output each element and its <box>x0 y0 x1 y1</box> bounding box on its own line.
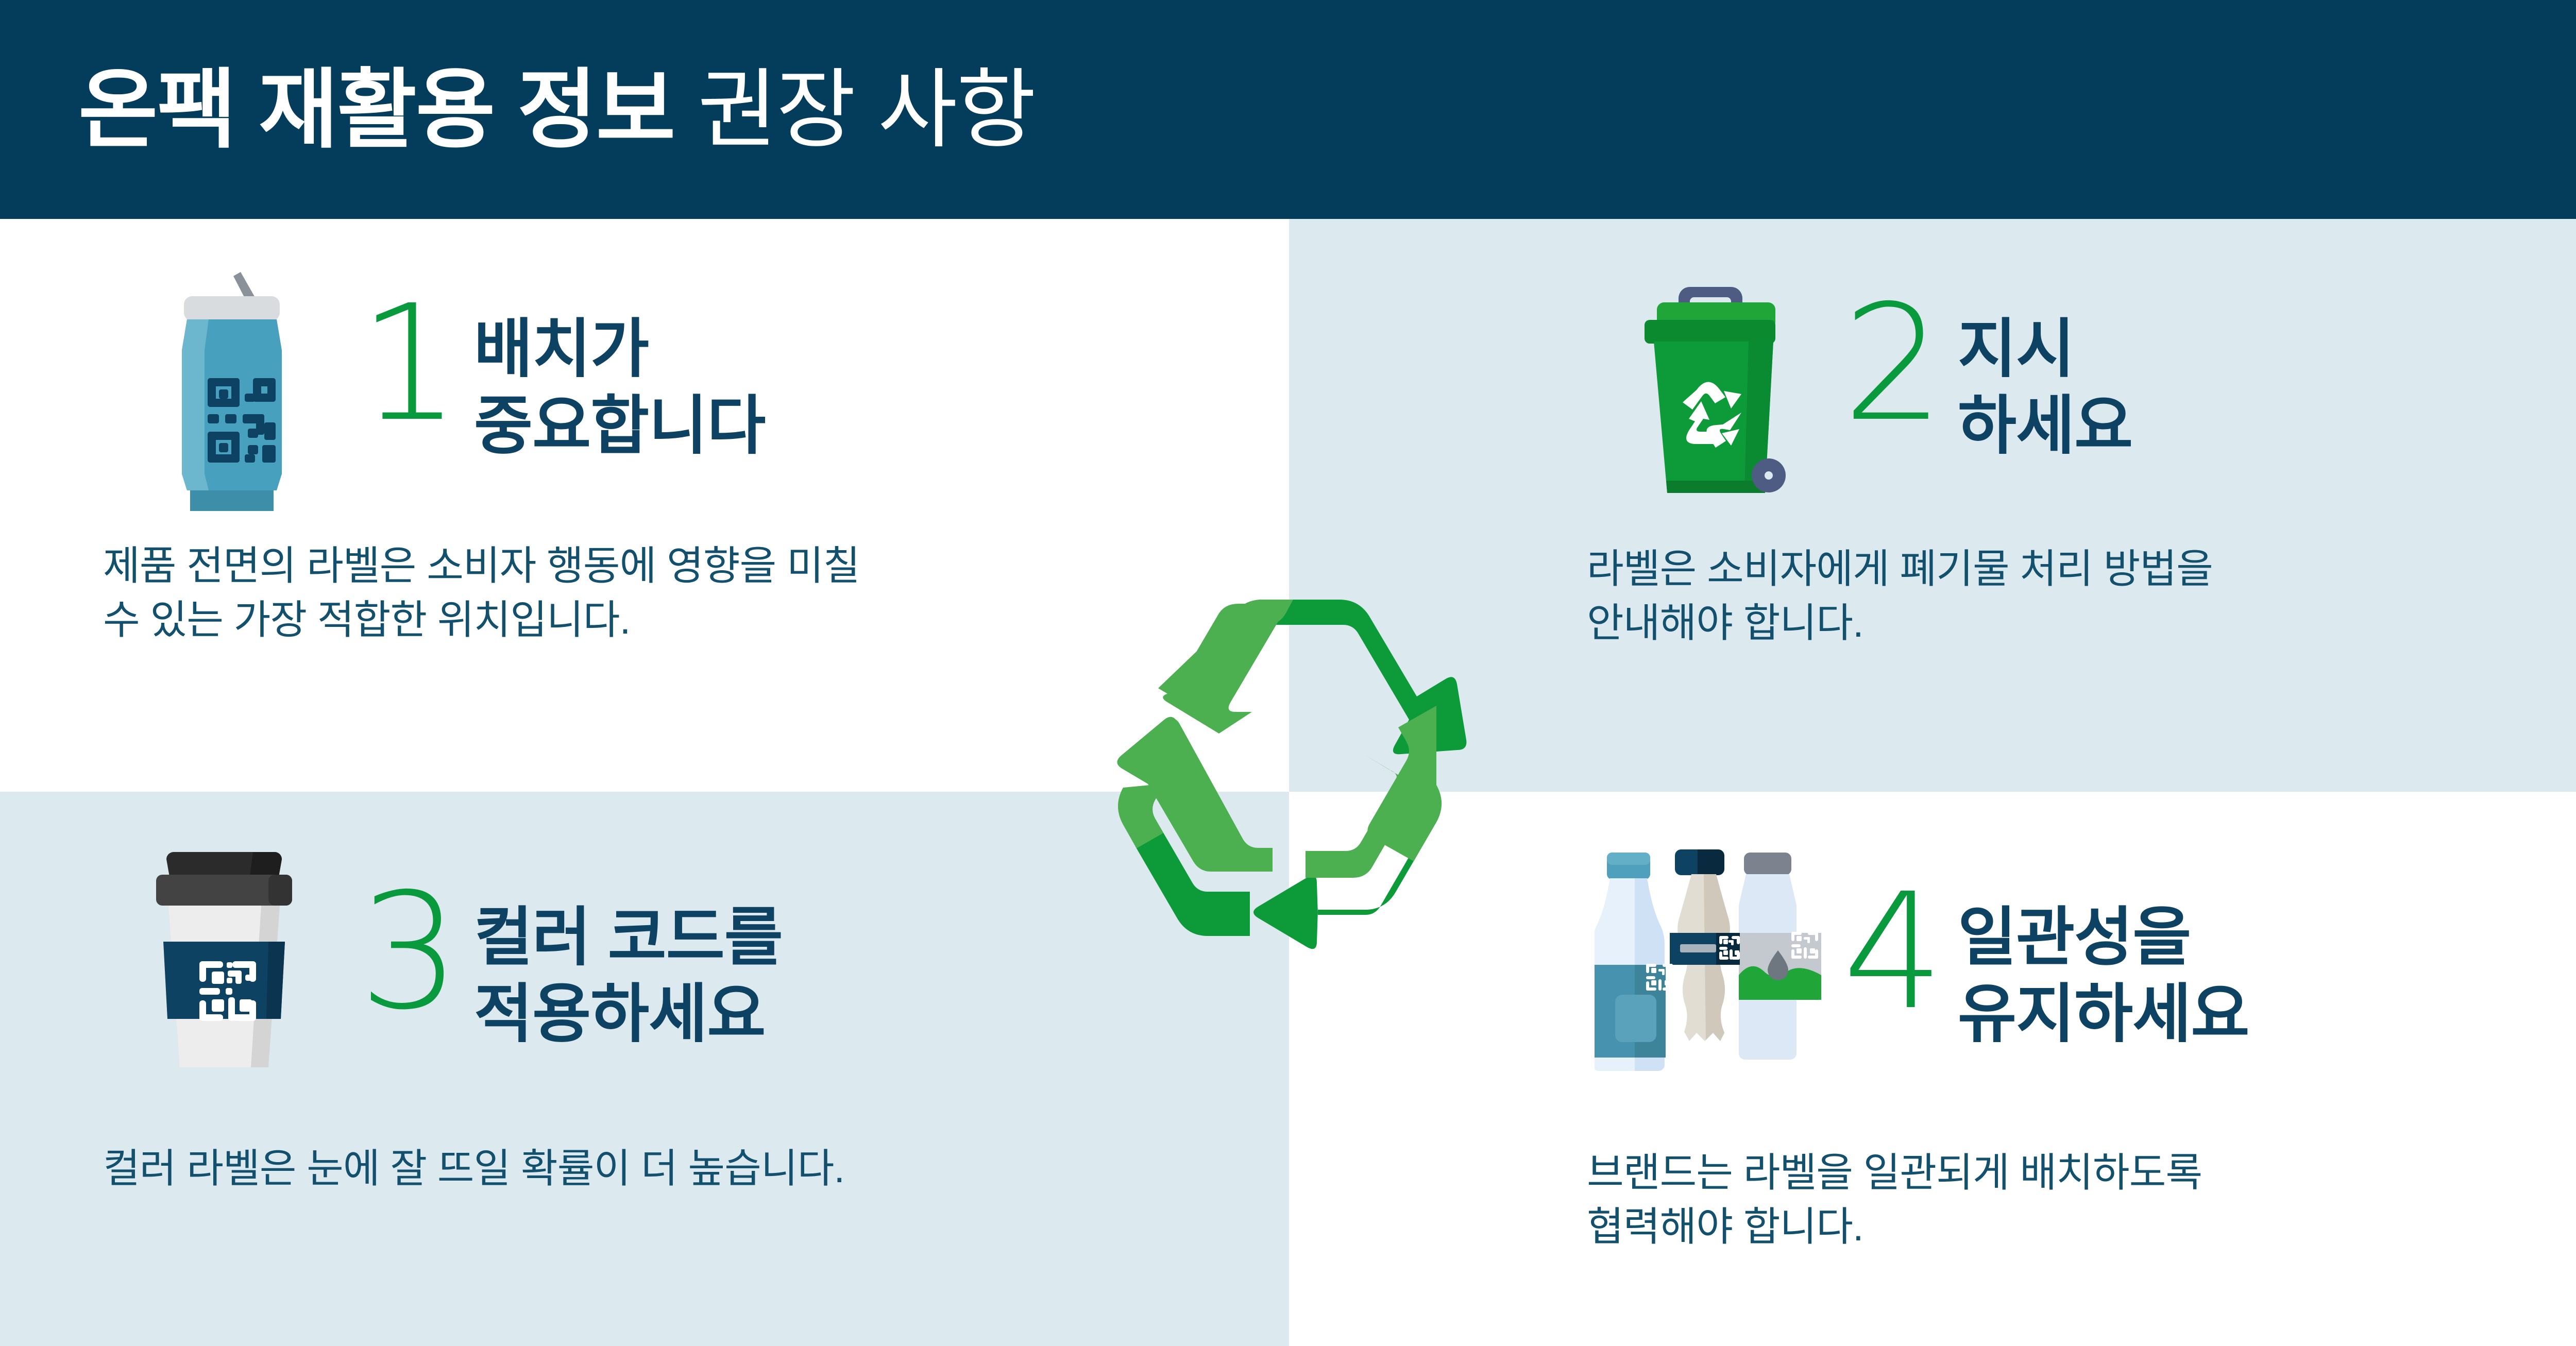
step-4-caption: 브랜드는 라벨을 일관되게 배치하도록 협력해야 합니다. <box>1587 1146 2576 1253</box>
beverage-can-with-qr-icon <box>103 268 345 515</box>
step-3-caption: 컬러 라벨은 눈에 잘 뜨일 확률이 더 높습니다. <box>103 1141 1185 1196</box>
page-header: 온팩 재활용 정보 권장 사항 <box>0 0 2576 219</box>
step-3-heading: 컬러 코드를 적용하세요 <box>474 899 783 1053</box>
step-1-number: 1 <box>345 296 474 433</box>
step-card-3: 3 컬러 코드를 적용하세요 컬러 라벨은 눈에 잘 뜨일 확률이 더 높습니다… <box>103 834 1185 1196</box>
step-2-header-row: 2 지시 하세요 <box>1587 268 2576 515</box>
step-card-1: 1 배치가 중요합니다 제품 전면의 라벨은 소비자 행동에 영향을 미칠 수 … <box>103 268 1185 646</box>
step-3-number: 3 <box>345 884 474 1021</box>
step-4-number: 4 <box>1829 884 1958 1021</box>
step-3-header-row: 3 컬러 코드를 적용하세요 <box>103 834 1185 1077</box>
step-2-number: 2 <box>1829 296 1958 433</box>
step-4-header-row: 4 일관성을 유지하세요 <box>1587 834 2576 1082</box>
coffee-cup-with-qr-sleeve-icon <box>103 834 345 1077</box>
three-bottles-with-qr-labels-icon <box>1587 834 1829 1082</box>
step-card-4: 4 일관성을 유지하세요 브랜드는 라벨을 일관되게 배치하도록 협력해야 합니… <box>1587 834 2576 1253</box>
step-2-heading: 지시 하세요 <box>1958 311 2132 465</box>
step-2-caption: 라벨은 소비자에게 폐기물 처리 방법을 안내해야 합니다. <box>1587 542 2576 650</box>
page-title-light: 권장 사항 <box>698 61 1035 158</box>
step-card-2: 2 지시 하세요 라벨은 소비자에게 폐기물 처리 방법을 안내해야 합니다. <box>1587 268 2576 650</box>
infographic-page: 온팩 재활용 정보 권장 사항 <box>0 0 2576 1346</box>
step-4-heading: 일관성을 유지하세요 <box>1958 899 2249 1053</box>
page-title: 온팩 재활용 정보 권장 사항 <box>78 66 1035 153</box>
step-1-heading: 배치가 중요합니다 <box>474 311 765 465</box>
step-1-header-row: 1 배치가 중요합니다 <box>103 268 1185 515</box>
green-recycling-wheelie-bin-icon <box>1587 268 1829 515</box>
page-title-bold: 온팩 재활용 정보 <box>78 61 674 158</box>
step-1-caption: 제품 전면의 라벨은 소비자 행동에 영향을 미칠 수 있는 가장 적합한 위치… <box>103 539 1185 646</box>
